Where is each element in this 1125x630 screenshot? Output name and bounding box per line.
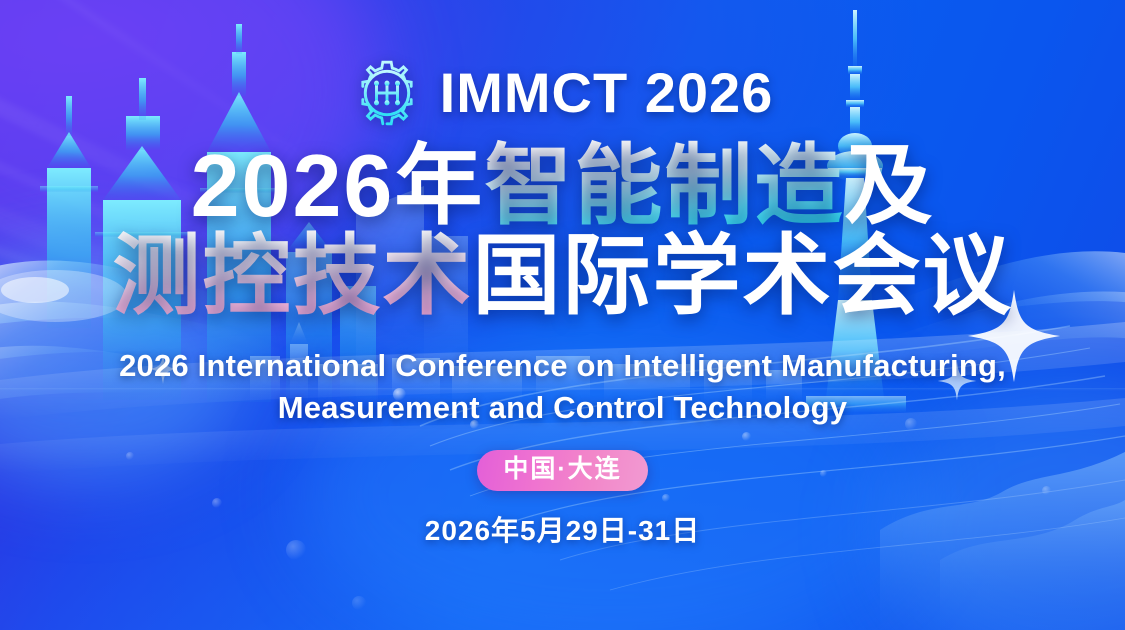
conference-banner: IMMCT 2026 2026年智能制造及 测控技术国际学术会议 2026 In…	[0, 0, 1125, 630]
english-title: 2026 International Conference on Intelli…	[119, 345, 1006, 429]
title-segment-year: 2026年	[191, 136, 485, 235]
chinese-title-line-1: 2026年智能制造及	[191, 140, 935, 232]
logo-row: IMMCT 2026	[352, 56, 774, 130]
english-title-line-1: 2026 International Conference on Intelli…	[119, 345, 1006, 387]
title-segment-conference: 国际学术会议	[473, 226, 1013, 325]
location-badge: 中国·大连	[477, 450, 647, 491]
chinese-title-line-2: 测控技术国际学术会议	[112, 230, 1012, 322]
title-segment-and: 及	[844, 136, 934, 235]
logo-text: IMMCT 2026	[440, 65, 774, 121]
gear-circuit-logo-icon	[352, 58, 422, 128]
title-segment-smart-mfg: 智能制造	[484, 136, 844, 235]
date-text: 2026年5月29日-31日	[425, 509, 700, 549]
english-title-line-2: Measurement and Control Technology	[119, 387, 1006, 429]
title-segment-measurement-control: 测控技术	[112, 226, 472, 325]
banner-content: IMMCT 2026 2026年智能制造及 测控技术国际学术会议 2026 In…	[0, 0, 1125, 630]
